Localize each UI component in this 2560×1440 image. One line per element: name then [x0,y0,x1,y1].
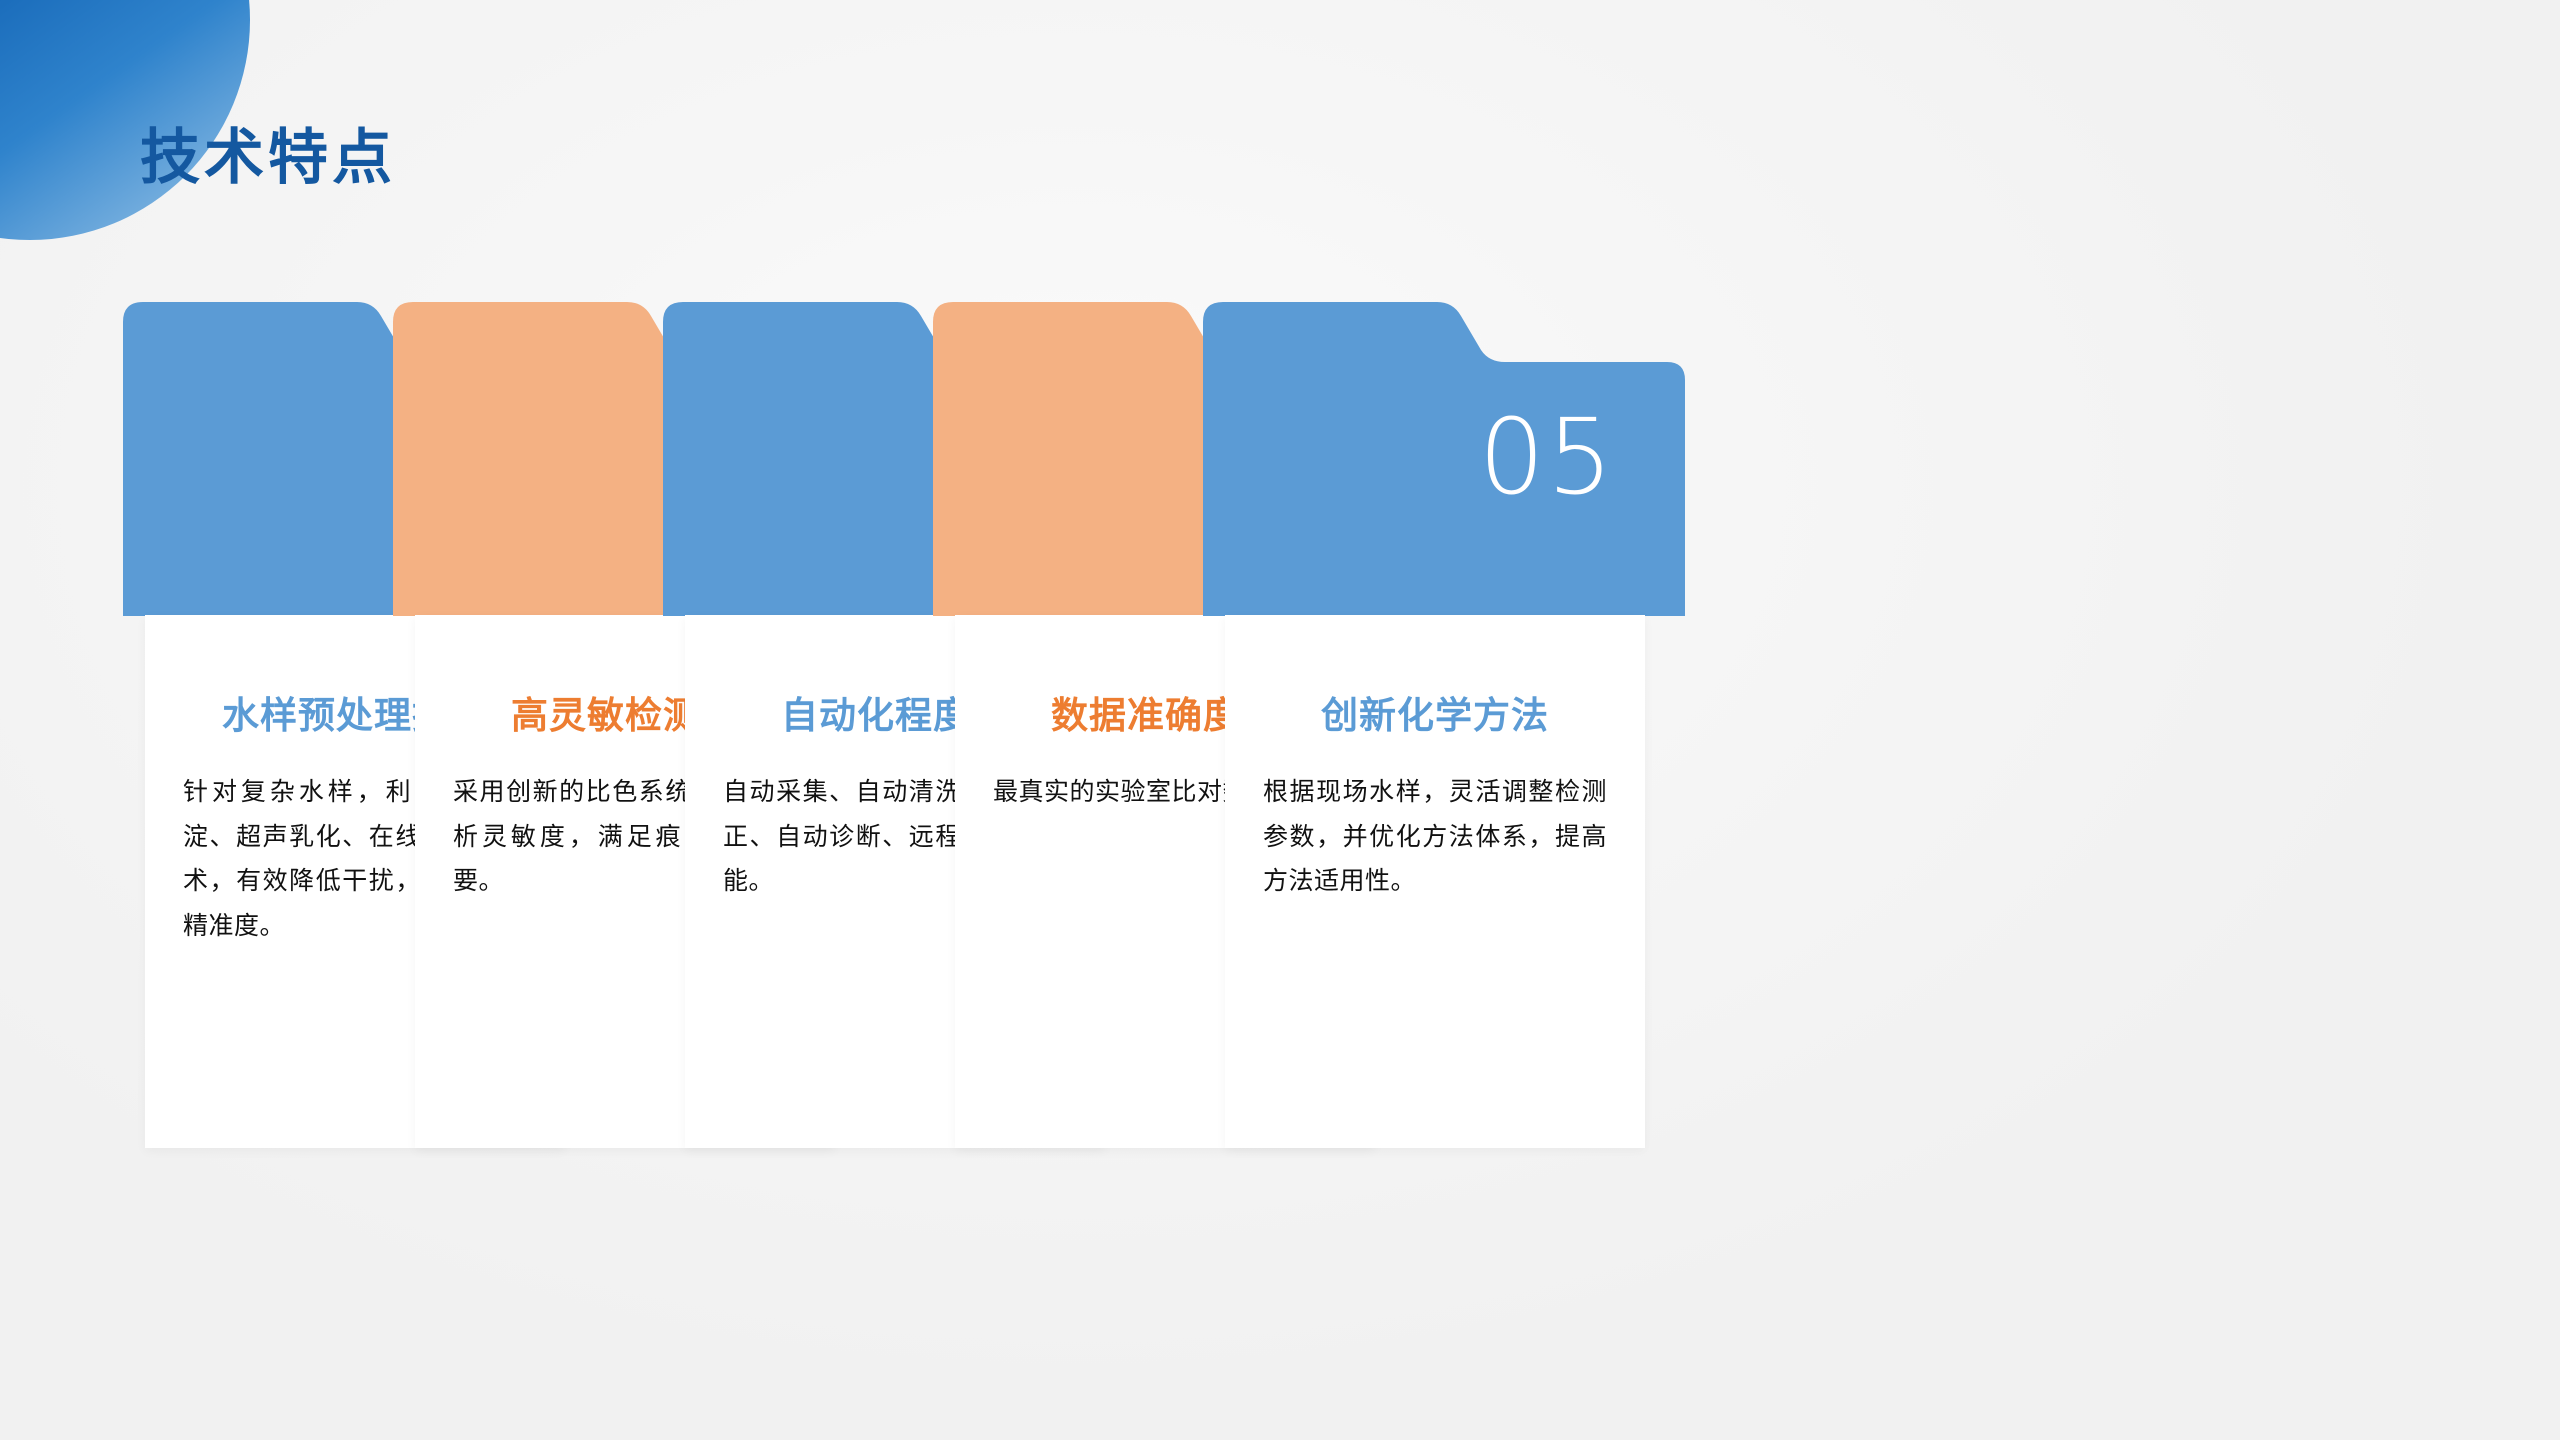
card-description: 根据现场水样，灵活调整检测参数，并优化方法体系，提高方法适用性。 [1225,734,1645,904]
card-heading: 创新化学方法 [1225,615,1645,734]
slide-canvas: 技术特点 01 水样预处理技术 针对复杂水样，利用物理沉淀、超声乳化、在线清洗等… [0,0,2560,1440]
card-body: 创新化学方法 根据现场水样，灵活调整检测参数，并优化方法体系，提高方法适用性。 [1225,615,1645,1148]
card-number: 05 [1185,405,1615,509]
feature-card-list: 01 水样预处理技术 针对复杂水样，利用物理沉淀、超声乳化、在线清洗等技术，有效… [0,0,2560,1440]
feature-card-05[interactable]: 05 创新化学方法 根据现场水样，灵活调整检测参数，并优化方法体系，提高方法适用… [1185,300,1685,1148]
